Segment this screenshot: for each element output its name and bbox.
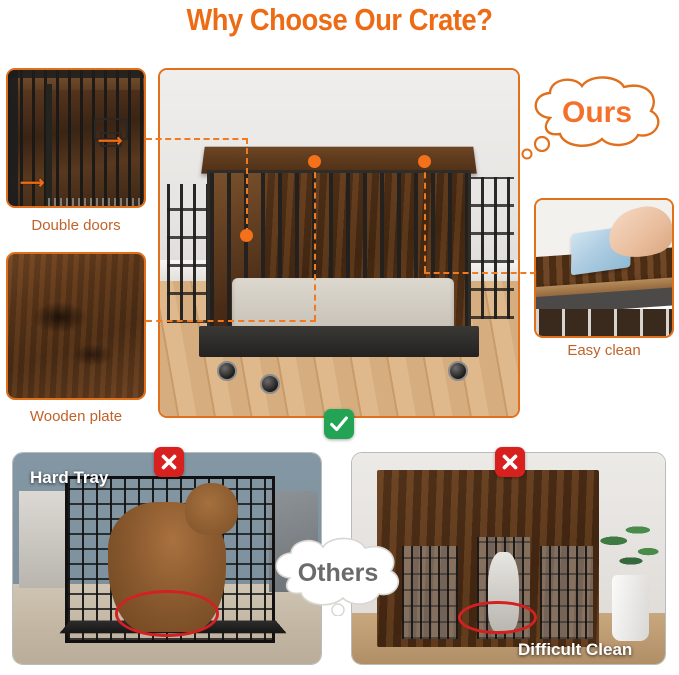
caption-double-doors: Double doors [6, 217, 146, 234]
plant-pot [612, 575, 650, 640]
others-speech-bubble: Others [262, 534, 414, 616]
page-title: Why Choose Our Crate? [41, 2, 639, 38]
connector-dot [240, 229, 253, 242]
crate-bars [536, 309, 672, 336]
connector-line-wooden-plate-vertical [314, 162, 316, 321]
ours-label: Ours [520, 69, 674, 157]
feature-photo-double-doors[interactable]: ⟶ ⟶ [6, 68, 146, 208]
connector-line-easy-clean-vertical [424, 162, 426, 272]
connector-dot [308, 155, 321, 168]
cross-badge [154, 447, 184, 477]
cross-icon [158, 451, 180, 473]
caption-easy-clean: Easy clean [534, 342, 674, 359]
others-label: Others [262, 532, 414, 614]
background-shelf [19, 491, 68, 588]
problem-highlight-ellipse [458, 601, 536, 635]
crate-frame-edges [8, 70, 144, 206]
crate-mesh-door-right [540, 546, 593, 639]
caster-wheel [448, 361, 468, 381]
connector-dot [418, 155, 431, 168]
connector-line-double-doors [146, 138, 248, 140]
wood-grain-texture [8, 254, 144, 398]
check-badge [324, 409, 354, 439]
caption-wooden-plate: Wooden plate [6, 408, 146, 425]
check-icon [328, 413, 350, 435]
crate-base-frame [199, 326, 478, 357]
problem-highlight-ellipse [115, 590, 220, 636]
cross-badge [495, 447, 525, 477]
ours-speech-bubble: Ours [520, 72, 674, 160]
connector-line-wooden-plate [146, 320, 316, 322]
plant-leaves [593, 512, 662, 584]
label-difficult-clean: Difficult Clean [518, 640, 632, 660]
cross-icon [499, 451, 521, 473]
right-side-door [468, 177, 515, 319]
label-hard-tray: Hard Tray [30, 468, 108, 488]
dog-head [185, 483, 237, 536]
crate-cushion [232, 278, 454, 333]
connector-line-double-doors-vertical [246, 138, 248, 234]
feature-photo-wooden-plate[interactable] [6, 252, 146, 400]
main-product-photo[interactable] [158, 68, 520, 418]
connector-line-easy-clean [424, 272, 536, 274]
caster-wheel [217, 361, 237, 381]
feature-photo-easy-clean[interactable] [534, 198, 674, 338]
